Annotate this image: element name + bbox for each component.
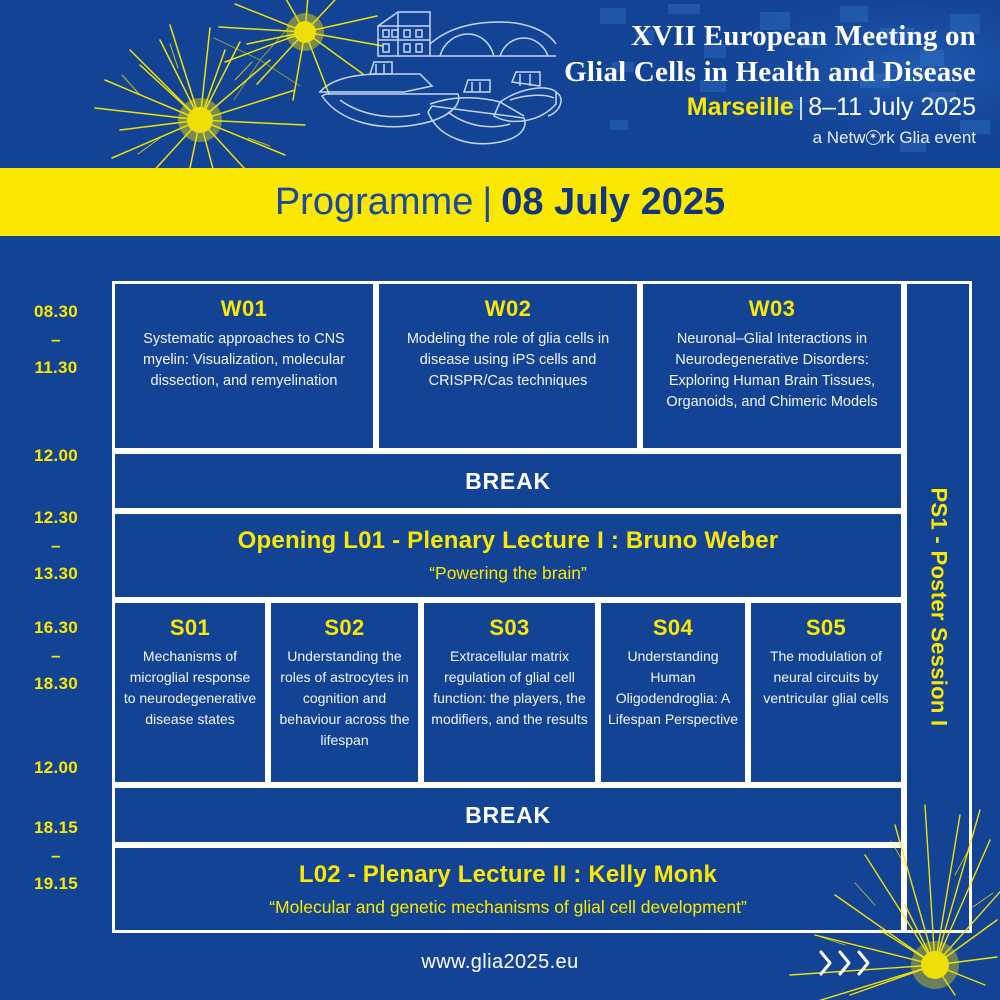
chevron-group — [818, 948, 872, 978]
symposium-card-s04[interactable]: S04 Understanding Human Oligodendroglia:… — [598, 600, 748, 785]
workshop-card-w01[interactable]: W01 Systematic approaches to CNS myelin:… — [112, 281, 376, 451]
workshop-card-w02[interactable]: W02 Modeling the role of glia cells in d… — [376, 281, 640, 451]
poster-footer: www.glia2025.eu — [0, 934, 1000, 1000]
time-slot-1200-b: 12.00 — [0, 754, 112, 782]
time-point: 12.00 — [0, 754, 112, 782]
tagline-prefix: a Netw — [813, 128, 866, 147]
time-end: 13.30 — [0, 560, 112, 588]
symposium-card-s01[interactable]: S01 Mechanisms of microglial response to… — [112, 600, 268, 785]
lecture-subtitle: “Powering the brain” — [429, 563, 587, 584]
symposium-description: Mechanisms of microglial response to neu… — [115, 641, 265, 730]
time-slot-1630-1830: 16.30 – 18.30 — [0, 614, 112, 698]
lecture-title: L02 - Plenary Lecture II : Kelly Monk — [299, 861, 717, 889]
chevron-right-icon — [856, 948, 872, 978]
header-title-block: XVII European Meeting on Glial Cells in … — [564, 18, 976, 150]
time-start: 12.30 — [0, 504, 112, 532]
meeting-title-line2: Glial Cells in Health and Disease — [564, 54, 976, 90]
workshop-description: Neuronal–Glial Interactions in Neurodege… — [643, 322, 901, 413]
time-dash: – — [0, 842, 112, 870]
title-separator: | — [794, 93, 809, 121]
workshop-card-w03[interactable]: W03 Neuronal–Glial Interactions in Neuro… — [640, 281, 904, 451]
time-end: 18.30 — [0, 670, 112, 698]
chevron-right-icon — [837, 948, 853, 978]
city-label: Marseille — [687, 93, 794, 121]
poster-session-label: PS1 - Poster Session I — [925, 488, 951, 727]
banner-date-label: 08 July 2025 — [501, 181, 725, 223]
lecture-title: Opening L01 - Plenary Lecture I : Bruno … — [238, 527, 779, 555]
workshop-code: W03 — [749, 296, 795, 322]
time-end: 19.15 — [0, 870, 112, 898]
symposium-card-s02[interactable]: S02 Understanding the roles of astrocyte… — [268, 600, 421, 785]
symposium-card-s03[interactable]: S03 Extracellular matrix regulation of g… — [421, 600, 598, 785]
symposium-code: S02 — [324, 615, 364, 641]
symposium-card-s05[interactable]: S05 The modulation of neural circuits by… — [748, 600, 904, 785]
tagline-middle: rk Glia — [881, 128, 930, 147]
break-label: BREAK — [465, 802, 551, 829]
plenary-lecture-1-card[interactable]: Opening L01 - Plenary Lecture I : Bruno … — [112, 511, 904, 600]
programme-poster: XVII European Meeting on Glial Cells in … — [0, 0, 1000, 1000]
break-label: BREAK — [465, 468, 551, 495]
network-glia-star-icon — [866, 130, 881, 145]
symposium-description: Extracellular matrix regulation of glial… — [424, 641, 595, 730]
symposium-code: S03 — [489, 615, 529, 641]
network-glia-tagline: a Netwrk Glia event — [564, 126, 976, 150]
time-start: 18.15 — [0, 814, 112, 842]
time-slot-1815-1915: 18.15 – 19.15 — [0, 814, 112, 898]
lecture-subtitle: “Molecular and genetic mechanisms of gli… — [269, 897, 747, 918]
dates-label: 8–11 July 2025 — [808, 93, 976, 121]
chevron-right-icon — [818, 948, 834, 978]
time-slot-1230-1330: 12.30 – 13.30 — [0, 504, 112, 588]
time-start: 08.30 — [0, 298, 112, 326]
meeting-location-dates: Marseille|8–11 July 2025 — [564, 90, 976, 124]
symposium-description: Understanding the roles of astrocytes in… — [271, 641, 418, 751]
time-slot-0830-1130: 08.30 – 11.30 — [0, 298, 112, 382]
time-start: 16.30 — [0, 614, 112, 642]
symposium-code: S05 — [806, 615, 846, 641]
banner-programme-label: Programme — [275, 181, 474, 223]
workshop-code: W02 — [485, 296, 531, 322]
banner-separator: | — [473, 181, 501, 223]
poster-header: XVII European Meeting on Glial Cells in … — [0, 0, 1000, 168]
time-slot-1200-a: 12.00 — [0, 442, 112, 470]
time-dash: – — [0, 532, 112, 560]
programme-banner: Programme|08 July 2025 — [0, 168, 1000, 236]
time-dash: – — [0, 326, 112, 354]
banner-text: Programme|08 July 2025 — [275, 179, 725, 225]
time-end: 11.30 — [0, 354, 112, 382]
time-point: 12.00 — [0, 442, 112, 470]
symposium-description: Understanding Human Oligodendroglia: A L… — [601, 641, 745, 730]
workshop-description: Systematic approaches to CNS myelin: Vis… — [115, 322, 373, 392]
tagline-suffix: event — [934, 128, 976, 147]
symposium-code: S04 — [653, 615, 693, 641]
symposium-code: S01 — [170, 615, 210, 641]
break-row-1: BREAK — [112, 451, 904, 511]
time-dash: – — [0, 642, 112, 670]
meeting-title-line1: XVII European Meeting on — [564, 18, 976, 54]
time-column: 08.30 – 11.30 12.00 12.30 – 13.30 16.30 … — [0, 236, 112, 936]
workshop-description: Modeling the role of glia cells in disea… — [379, 322, 637, 392]
workshop-code: W01 — [221, 296, 267, 322]
symposium-description: The modulation of neural circuits by ven… — [751, 641, 901, 709]
